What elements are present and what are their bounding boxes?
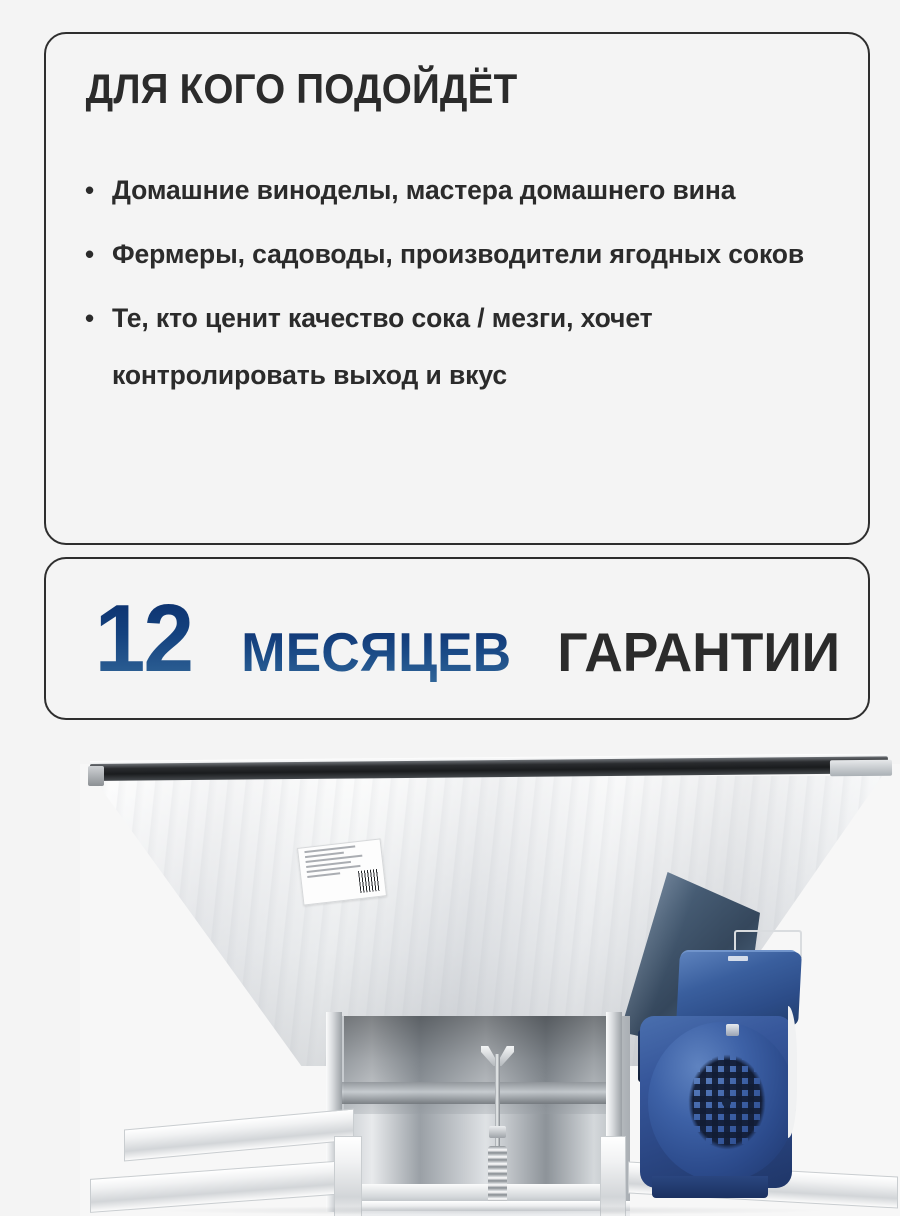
page-title: ДЛЯ КОГО ПОДОЙДЁТ — [82, 64, 772, 114]
product-shadow — [160, 1206, 820, 1215]
list-item: • Те, кто ценит качество сока / мезги, х… — [82, 290, 832, 404]
product-spec-label — [297, 838, 387, 905]
spec-label-line — [307, 872, 340, 878]
list-item-label: Фермеры, садоводы, производители ягодных… — [112, 239, 804, 269]
support-foot-right — [600, 1136, 626, 1216]
audience-card: ДЛЯ КОГО ПОДОЙДЁТ • Домашние виноделы, м… — [44, 32, 870, 545]
crush-chamber-band — [340, 1082, 618, 1104]
warranty-guarantee-label: ГАРАНТИИ — [557, 622, 840, 682]
screw-spring — [488, 1146, 507, 1204]
barcode-icon — [358, 869, 380, 893]
screw-nut — [489, 1126, 506, 1138]
motor-foot — [652, 1176, 768, 1198]
audience-list: • Домашние виноделы, мастера домашнего в… — [82, 162, 832, 404]
support-foot-left — [334, 1136, 362, 1216]
hopper-rim-cap-left — [88, 766, 104, 786]
warranty-row: 12 МЕСЯЦЕВ ГАРАНТИИ — [46, 591, 868, 687]
list-item-label: Те, кто ценит качество сока / мезги, хоч… — [112, 303, 653, 390]
bullet-icon: • — [85, 162, 94, 219]
motor-junction-box-slot — [728, 956, 748, 961]
product-photo — [40, 754, 900, 1216]
list-item: • Домашние виноделы, мастера домашнего в… — [82, 162, 832, 219]
list-item: • Фермеры, садоводы, производители ягодн… — [82, 226, 832, 283]
bullet-icon: • — [85, 226, 94, 283]
motor-hub — [722, 1098, 731, 1107]
motor-bolt — [726, 1024, 739, 1036]
page-root: ДЛЯ КОГО ПОДОЙДЁТ • Домашние виноделы, м… — [0, 0, 900, 1200]
warranty-number: 12 — [95, 591, 193, 687]
list-item-label: Домашние виноделы, мастера домашнего вин… — [112, 175, 735, 205]
hopper-rim-cap-right — [830, 760, 892, 777]
warranty-months-label: МЕСЯЦЕВ — [241, 622, 511, 682]
motor-power-cable — [782, 1006, 797, 1138]
warranty-card: 12 МЕСЯЦЕВ ГАРАНТИИ — [44, 557, 870, 720]
bullet-icon: • — [85, 290, 94, 347]
spec-label-line — [304, 845, 355, 853]
